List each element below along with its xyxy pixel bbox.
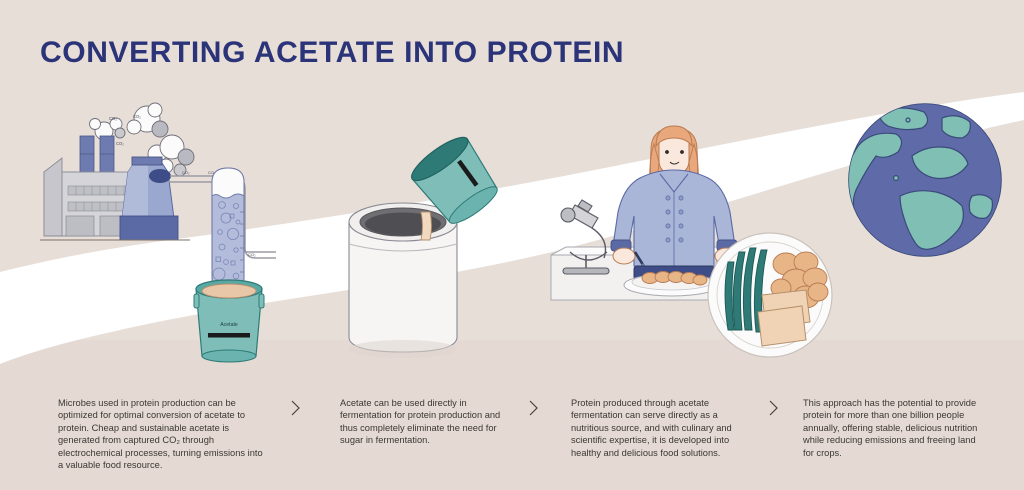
acetate-bucket-illustration: Acetate <box>194 280 264 362</box>
chevron-right-icon <box>526 398 542 418</box>
page-title: CONVERTING ACETATE INTO PROTEIN <box>40 36 624 70</box>
svg-text:CO₂: CO₂ <box>109 116 117 121</box>
step-4-caption: This approach has the potential to provi… <box>803 397 983 459</box>
step-2-caption: Acetate can be used directly in fermenta… <box>340 397 520 447</box>
food-plate-illustration <box>708 233 832 357</box>
svg-text:CO₂: CO₂ <box>116 141 124 146</box>
step-1-caption: Microbes used in protein production can … <box>58 397 263 471</box>
bread-slices <box>758 290 810 346</box>
fermentation-tank-illustration <box>349 203 457 358</box>
step-3-caption: Protein produced through acetate ferment… <box>571 397 751 459</box>
svg-text:CO₂: CO₂ <box>133 114 141 119</box>
chevron-right-icon <box>766 398 782 418</box>
svg-text:CO₂: CO₂ <box>182 170 190 175</box>
acetate-bucket-label: Acetate <box>220 322 238 328</box>
pour-stream <box>421 212 432 240</box>
infographic-canvas: CO₂ CO₂ CO₂ CO₂ <box>0 0 1024 490</box>
chevron-right-icon <box>288 398 304 418</box>
svg-text:CO₂: CO₂ <box>248 252 256 257</box>
